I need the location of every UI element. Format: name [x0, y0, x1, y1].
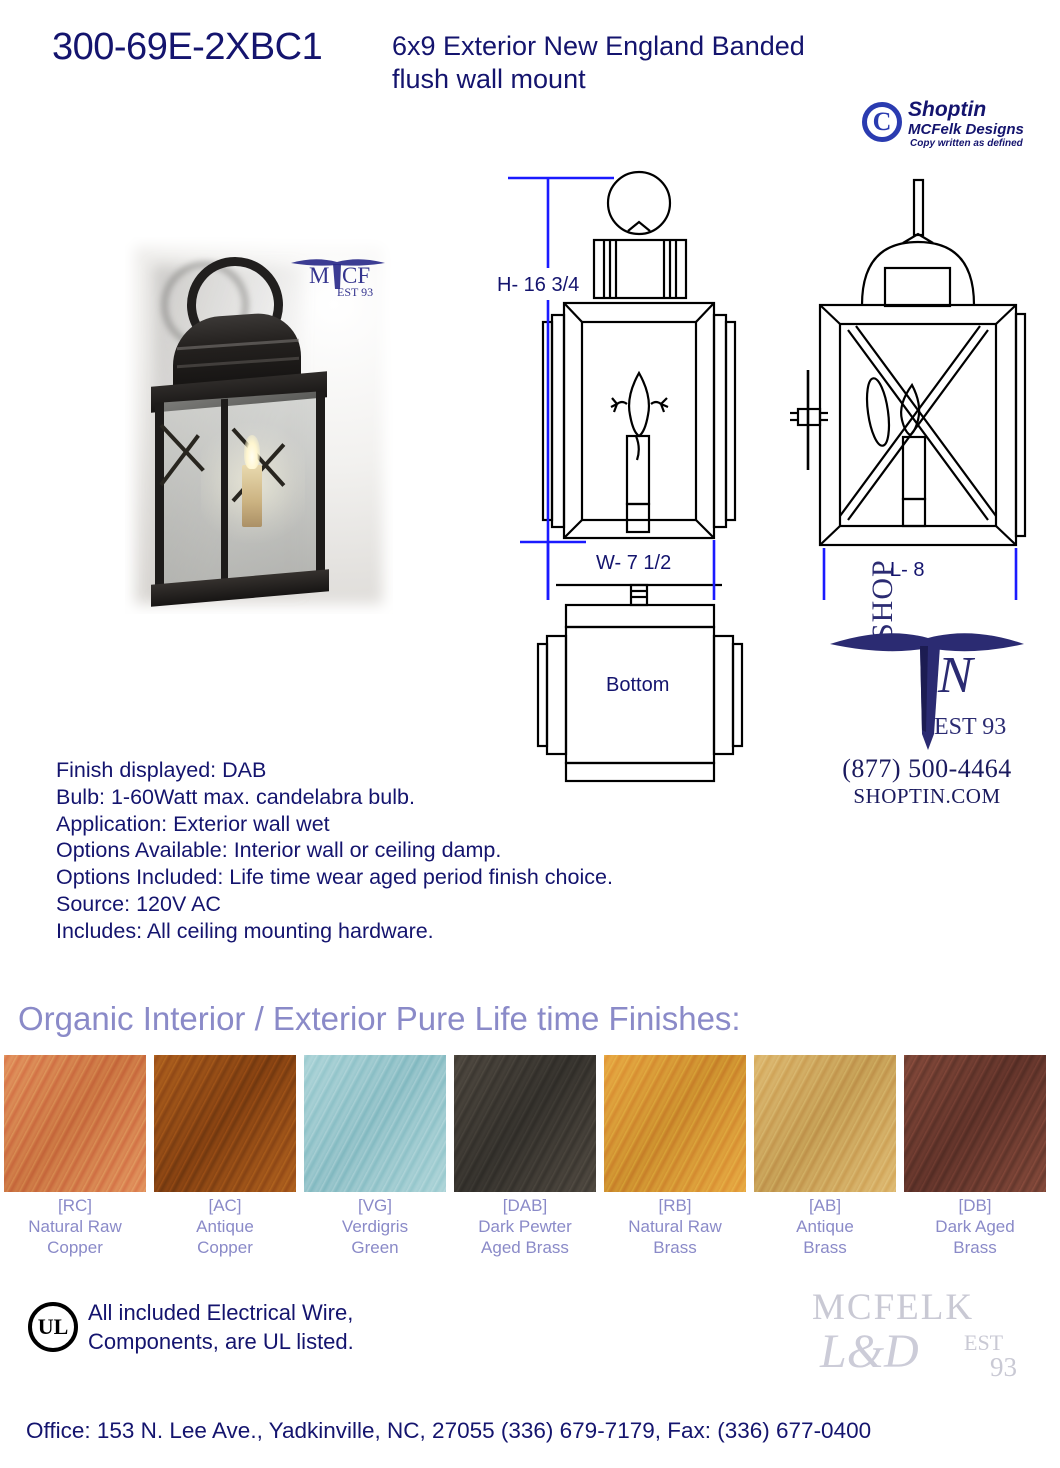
mcfelk-year: 93: [990, 1352, 1017, 1383]
ul-line2: Components, are UL listed.: [88, 1327, 354, 1356]
front-banded-cap: [594, 240, 686, 298]
mcfelk-name: MCFELK: [812, 1286, 974, 1329]
finish-swatch-color[interactable]: [4, 1055, 146, 1192]
copyright-badge: C Shoptin MCFelk Designs Copy written as…: [862, 98, 1034, 154]
finish-name-line1: Dark Pewter: [454, 1216, 596, 1237]
finish-name-line1: Verdigris: [304, 1216, 446, 1237]
front-socket: [627, 504, 649, 532]
spec-line: Finish displayed: DAB: [56, 757, 613, 784]
finish-swatch-item[interactable]: [RC] Natural Raw Copper: [4, 1055, 146, 1192]
svg-text:EST 93: EST 93: [337, 285, 373, 299]
product-photo: M CF EST 93: [125, 237, 393, 614]
finish-swatch-item[interactable]: [AC] Antique Copper: [154, 1055, 296, 1192]
mcf-watermark-icon: M CF EST 93: [285, 253, 391, 299]
finish-code: [DAB]: [454, 1195, 596, 1216]
bulb-flame: [244, 435, 260, 469]
finish-name-line2: Brass: [904, 1237, 1046, 1258]
finish-name-line2: Brass: [754, 1237, 896, 1258]
shoptin-shop-text: SHOP: [866, 559, 900, 640]
copyright-brand: Shoptin: [908, 98, 986, 122]
mcfelk-monogram: L&D: [820, 1324, 919, 1379]
finish-swatch-color[interactable]: [754, 1055, 896, 1192]
svg-text:M: M: [309, 263, 329, 288]
ul-listing-block: UL All included Electrical Wire, Compone…: [28, 1298, 448, 1370]
finish-swatch-item[interactable]: [RB] Natural Raw Brass: [604, 1055, 746, 1192]
bottom-view-label: Bottom: [606, 674, 669, 697]
finish-swatch-label: [RB] Natural Raw Brass: [604, 1195, 746, 1258]
side-body-frame: [820, 305, 1016, 545]
finish-swatch-label: [RC] Natural Raw Copper: [4, 1195, 146, 1258]
front-body-frame: [564, 303, 714, 538]
side-dome-cap: [862, 242, 974, 305]
finish-swatch-color[interactable]: [304, 1055, 446, 1192]
specification-list: Finish displayed: DAB Bulb: 1-60Watt max…: [56, 757, 613, 945]
mcfelk-watermark: MCFELK L&D EST 93: [812, 1286, 1048, 1386]
finish-swatch-color[interactable]: [454, 1055, 596, 1192]
front-ring-finial: [608, 172, 670, 234]
model-number: 300-69E-2XBC1: [52, 26, 322, 69]
finish-name-line2: Aged Brass: [454, 1237, 596, 1258]
finish-code: [AC]: [154, 1195, 296, 1216]
corner-mullion: [221, 399, 228, 595]
finish-name-line1: Antique: [154, 1216, 296, 1237]
page-title: 6x9 Exterior New England Banded flush wa…: [392, 30, 952, 96]
finish-swatch-color[interactable]: [904, 1055, 1046, 1192]
candle-sleeve: [242, 465, 262, 527]
finish-code: [AB]: [754, 1195, 896, 1216]
finish-swatch-item[interactable]: [VG] Verdigris Green: [304, 1055, 446, 1192]
front-flame: [629, 373, 649, 436]
finish-swatch-color[interactable]: [604, 1055, 746, 1192]
ul-listing-text: All included Electrical Wire, Components…: [88, 1298, 354, 1356]
product-title-line1: 6x9 Exterior New England Banded: [392, 30, 952, 63]
spec-line: Application: Exterior wall wet: [56, 811, 613, 838]
spec-line: Source: 120V AC: [56, 891, 613, 918]
finish-swatch-color[interactable]: [154, 1055, 296, 1192]
shoptin-website[interactable]: SHOPTIN.COM: [816, 784, 1038, 809]
footer-address: Office: 153 N. Lee Ave., Yadkinville, NC…: [26, 1418, 871, 1444]
ul-line1: All included Electrical Wire,: [88, 1298, 354, 1327]
bottom-bolt: [631, 585, 647, 605]
finish-code: [RC]: [4, 1195, 146, 1216]
finishes-heading: Organic Interior / Exterior Pure Life ti…: [18, 1000, 741, 1038]
finish-name-line2: Copper: [4, 1237, 146, 1258]
finish-swatch-label: [AC] Antique Copper: [154, 1195, 296, 1258]
spec-line: Options Available: Interior wall or ceil…: [56, 837, 613, 864]
spec-line: Includes: All ceiling mounting hardware.: [56, 918, 613, 945]
shoptin-est-text: EST 93: [934, 714, 1006, 741]
copyright-icon: C: [862, 102, 902, 142]
finish-name-line2: Green: [304, 1237, 446, 1258]
finish-swatch-row: [RC] Natural Raw Copper [AC] Antique Cop…: [0, 1055, 1060, 1192]
product-title-line2: flush wall mount: [392, 63, 952, 96]
finish-code: [DB]: [904, 1195, 1046, 1216]
finish-code: [VG]: [304, 1195, 446, 1216]
ul-mark-icon: UL: [28, 1302, 78, 1352]
finish-name-line1: Antique: [754, 1216, 896, 1237]
shoptin-logo: SHOP N EST 93 (877) 500-4464 SHOPTIN.COM: [816, 622, 1038, 808]
front-candle-sleeve: [627, 436, 649, 504]
finish-name-line1: Natural Raw: [604, 1216, 746, 1237]
shoptin-n-text: N: [938, 646, 973, 705]
finish-name-line1: Natural Raw: [4, 1216, 146, 1237]
spec-line: Options Included: Life time wear aged pe…: [56, 864, 613, 891]
finish-swatch-label: [DAB] Dark Pewter Aged Brass: [454, 1195, 596, 1258]
finish-name-line2: Copper: [154, 1237, 296, 1258]
finish-name-line1: Dark Aged: [904, 1216, 1046, 1237]
height-dimension-label: H- 16 3/4: [497, 274, 579, 297]
finish-name-line2: Brass: [604, 1237, 746, 1258]
copyright-designs: MCFelk Designs: [908, 121, 1024, 138]
finish-swatch-label: [VG] Verdigris Green: [304, 1195, 446, 1258]
finish-swatch-item[interactable]: [DB] Dark Aged Brass: [904, 1055, 1046, 1192]
spec-line: Bulb: 1-60Watt max. candelabra bulb.: [56, 784, 613, 811]
finish-swatch-label: [AB] Antique Brass: [754, 1195, 896, 1258]
finish-swatch-item[interactable]: [AB] Antique Brass: [754, 1055, 896, 1192]
width-dimension-label: W- 7 1/2: [596, 552, 671, 575]
side-stem: [914, 180, 923, 235]
copyright-notice: Copy written as defined: [910, 138, 1023, 149]
finish-code: [RB]: [604, 1195, 746, 1216]
finish-swatch-label: [DB] Dark Aged Brass: [904, 1195, 1046, 1258]
shoptin-phone[interactable]: (877) 500-4464: [816, 754, 1038, 784]
finish-swatch-item[interactable]: [DAB] Dark Pewter Aged Brass: [454, 1055, 596, 1192]
